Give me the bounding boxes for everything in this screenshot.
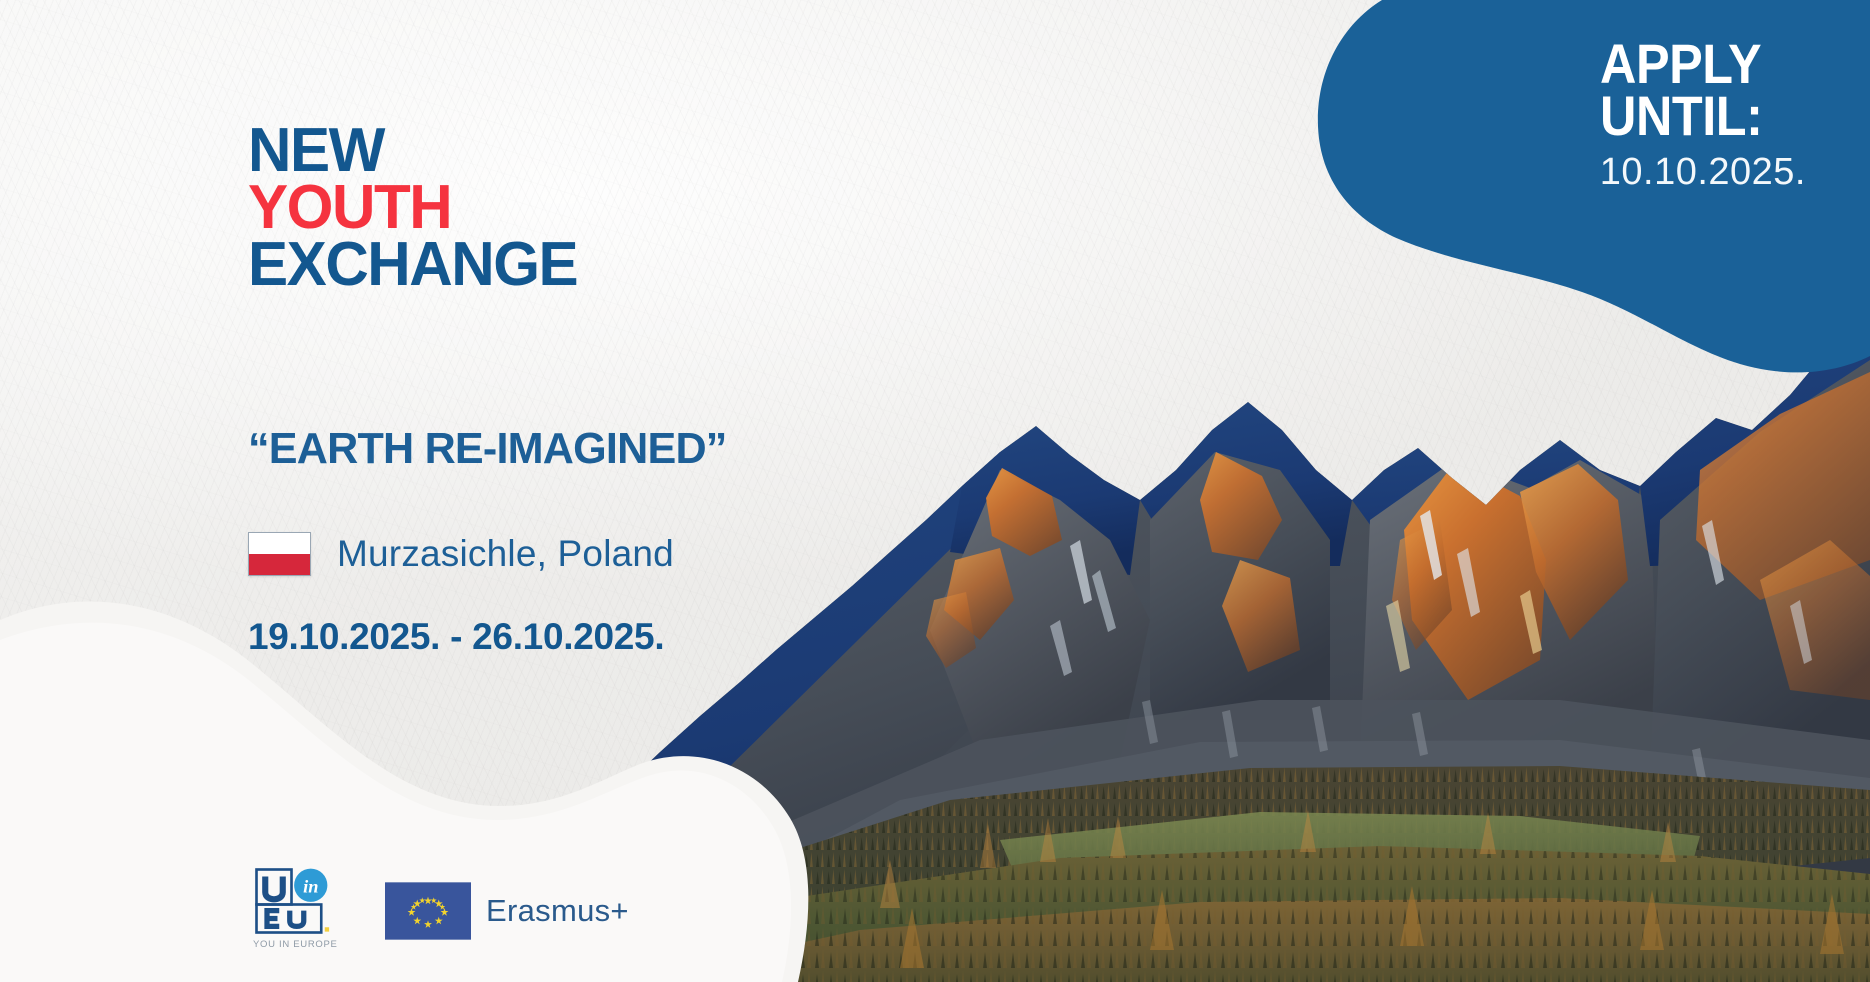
badge-text-block: APPLY UNTIL: 10.10.2025.	[1600, 38, 1806, 197]
flag-stripe-red	[249, 554, 310, 575]
badge-deadline-date: 10.10.2025.	[1600, 149, 1806, 197]
erasmus-plus-logo: Erasmus+	[385, 882, 629, 950]
flag-stripe-white	[249, 533, 310, 554]
apply-until-badge: APPLY UNTIL: 10.10.2025.	[1310, 0, 1870, 380]
footer-logos: in YOU IN EUROPE	[253, 866, 629, 950]
headline-block: NEW YOUTH EXCHANGE	[248, 122, 587, 293]
headline-line-new: NEW	[248, 122, 577, 179]
u-in-eu-logo: in YOU IN EUROPE	[253, 866, 337, 950]
poland-flag-icon	[248, 532, 311, 576]
location-label: Murzasichle, Poland	[337, 533, 674, 575]
badge-line-2: UNTIL:	[1600, 90, 1786, 142]
poster-canvas: APPLY UNTIL: 10.10.2025. NEW YOUTH EXCHA…	[0, 0, 1870, 982]
location-row: Murzasichle, Poland	[248, 532, 736, 576]
event-dates-label: 19.10.2025. - 26.10.2025.	[248, 616, 736, 658]
ueu-caption: YOU IN EUROPE	[253, 939, 337, 950]
event-details-block: “EARTH RE-IMAGINED” Murzasichle, Poland …	[248, 424, 736, 658]
event-theme-title: “EARTH RE-IMAGINED”	[248, 424, 727, 474]
headline-line-youth: YOUTH	[248, 179, 577, 236]
eu-flag-icon	[385, 882, 471, 940]
erasmus-plus-label: Erasmus+	[486, 893, 629, 929]
badge-line-1: APPLY	[1600, 38, 1786, 90]
headline-line-exchange: EXCHANGE	[248, 236, 577, 293]
ueu-in-letter: in	[303, 876, 318, 896]
